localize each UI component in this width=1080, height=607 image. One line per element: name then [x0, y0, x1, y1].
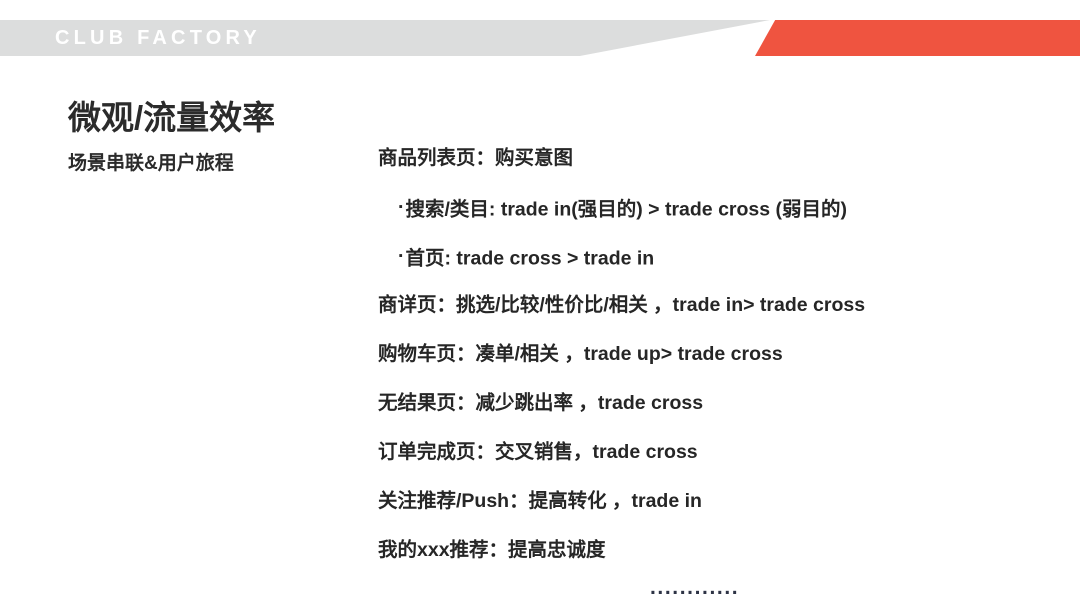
header-band: CLUB FACTORY: [0, 20, 1080, 56]
content-line: 我的xxx推荐：提高忠诚度: [378, 526, 1038, 575]
content-line: 商详页：挑选/比较/性价比/相关 ，trade in> trade cross: [378, 281, 1038, 330]
content-line: 关注推荐/Push：提高转化 ，trade in: [378, 477, 1038, 526]
content-line-label: 首页: trade cross > trade in: [406, 247, 655, 269]
content-line-label: 商品列表页：购买意图: [378, 147, 573, 169]
ellipsis-continuation: ............: [650, 574, 850, 602]
content-line-label: 我的xxx推荐：提高忠诚度: [378, 539, 606, 561]
brand-title: CLUB FACTORY: [55, 20, 261, 56]
content-line: 商品列表页：购买意图: [378, 134, 1038, 183]
content-line: ·搜索/类目: trade in(强目的) > trade cross (弱目的…: [378, 183, 1038, 232]
content-line-label: 购物车页：凑单/相关 ，trade up> trade cross: [378, 343, 783, 365]
content-line: 无结果页：减少跳出率 ，trade cross: [378, 379, 1038, 428]
content-line-label: 搜索/类目: trade in(强目的) > trade cross (弱目的): [406, 198, 848, 220]
content-line: ·首页: trade cross > trade in: [378, 232, 1038, 281]
content-line-label: 订单完成页：交叉销售，trade cross: [378, 441, 698, 463]
content-line-label: 商详页：挑选/比较/性价比/相关 ，trade in> trade cross: [378, 294, 865, 316]
page-subtitle: 场景串联&用户旅程: [68, 151, 358, 177]
content-line-label: 关注推荐/Push：提高转化 ，trade in: [378, 490, 702, 512]
bullet-dot-icon: ·: [398, 183, 405, 232]
content-list: 商品列表页：购买意图·搜索/类目: trade in(强目的) > trade …: [378, 134, 1038, 575]
content-line: 购物车页：凑单/相关 ，trade up> trade cross: [378, 330, 1038, 379]
content-line-label: 无结果页：减少跳出率 ，trade cross: [378, 392, 703, 414]
accent-band-red: [755, 20, 1080, 56]
content-line: 订单完成页：交叉销售，trade cross: [378, 428, 1038, 477]
title-block: 微观/流量效率 场景串联&用户旅程: [68, 98, 358, 177]
page-title: 微观/流量效率: [68, 98, 358, 138]
bullet-dot-icon: ·: [398, 232, 405, 281]
